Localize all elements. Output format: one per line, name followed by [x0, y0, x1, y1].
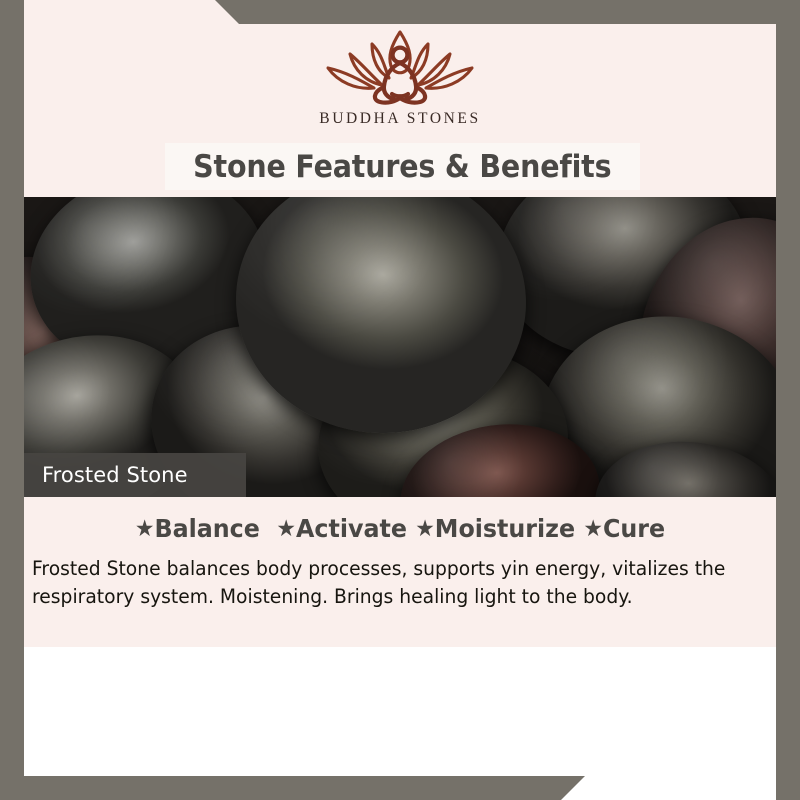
stone-photo: Frosted Stone	[0, 197, 800, 497]
description-line-1: Frosted Stone balances body processes, s…	[32, 555, 742, 583]
product-info-card: BUDDHA STONES Stone Features & Benefits …	[0, 0, 800, 800]
benefits-list: ★Balance ★Activate ★Moisturize ★Cure	[20, 514, 780, 543]
frame-left-accent	[0, 0, 24, 800]
star-icon: ★	[415, 516, 435, 542]
lotus-meditation-figure-icon	[312, 22, 488, 108]
title-banner: Stone Features & Benefits	[165, 143, 640, 190]
content-section: ★Balance ★Activate ★Moisturize ★Cure Fro…	[0, 497, 800, 647]
benefit-label-balance: Balance	[154, 514, 259, 543]
photo-caption-banner: Frosted Stone	[20, 453, 246, 497]
photo-backdrop	[0, 197, 800, 497]
benefit-label-moisturize: Moisturize	[435, 514, 575, 543]
star-icon: ★	[276, 516, 296, 542]
photo-caption-label: Frosted Stone	[42, 463, 188, 487]
header-section: BUDDHA STONES Stone Features & Benefits	[0, 0, 800, 197]
description-text: Frosted Stone balances body processes, s…	[32, 555, 742, 611]
page-title: Stone Features & Benefits	[193, 149, 611, 185]
star-icon: ★	[135, 516, 155, 542]
brand-name: BUDDHA STONES	[0, 110, 800, 128]
benefit-label-activate: Activate	[296, 514, 407, 543]
benefit-label-cure: Cure	[603, 514, 665, 543]
star-icon: ★	[583, 516, 603, 542]
frame-right-accent	[776, 0, 800, 800]
brand-logo-block: BUDDHA STONES	[0, 22, 800, 128]
description-line-2: respiratory system. Moistening. Brings h…	[32, 583, 742, 611]
